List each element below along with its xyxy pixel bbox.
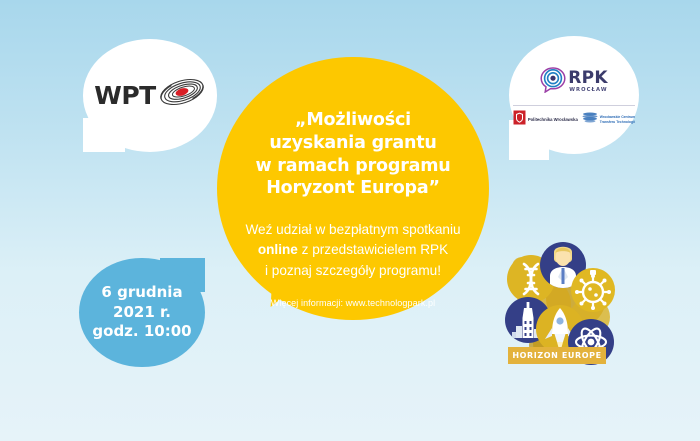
more-info-text: Więcej informacji: www.technologpark.pl (271, 298, 435, 308)
partner-politechnika: Politechnika Wrocławska (513, 110, 578, 130)
politechnika-shield-icon (513, 110, 526, 130)
sun-virus-icon (571, 268, 615, 312)
rpk-logo: RPK WROCŁAW Politechnika Wrocławska (509, 36, 639, 154)
rpk-letters: RPK WROCŁAW (568, 70, 608, 93)
headline-line-4: Horyzont Europa” (255, 177, 450, 200)
main-bubble-content: „Możliwości uzyskania grantu w ramach pr… (217, 57, 489, 320)
horizon-europe-banner: HORIZON EUROPE (508, 347, 606, 364)
date-bubble-content: 6 grudnia 2021 r. godz. 10:00 (79, 258, 205, 367)
wpt-logo: WPT (83, 39, 217, 152)
subtext-line-2: online z przedstawicielem RPK (245, 240, 460, 260)
poster-canvas: WPT (0, 0, 700, 441)
rpk-mark-row: RPK WROCŁAW (540, 67, 608, 98)
online-emphasis: online (258, 242, 298, 257)
wpt-wordmark: WPT (94, 83, 155, 108)
page-title: „Możliwości uzyskania grantu w ramach pr… (241, 109, 464, 200)
date-line-2: 2021 r. (113, 303, 171, 323)
partner-wctt: Wrocławskie Centrum Transferu Technologi… (582, 111, 635, 129)
date-line-3: godz. 10:00 (92, 322, 191, 342)
subtext-line-1: Weź udział w bezpłatnym spotkaniu (245, 220, 460, 240)
wctt-wave-icon (582, 111, 598, 129)
rpk-partner-logos: Politechnika Wrocławska Wrocławskie Cent (513, 105, 635, 130)
politechnika-label: Politechnika Wrocławska (528, 117, 578, 122)
subtitle-text: Weź udział w bezpłatnym spotkaniu online… (237, 220, 468, 281)
headline-line-2: uzyskania grantu (255, 132, 450, 155)
rpk-title: RPK (568, 70, 608, 87)
galaxy-swirl-icon (158, 76, 206, 113)
rpk-subtitle: WROCŁAW (569, 88, 607, 93)
headline-line-1: „Możliwości (255, 109, 450, 132)
subtext-line-2-rest: z przedstawicielem RPK (298, 242, 448, 257)
subtext-line-3: i poznaj szczegóły programu! (245, 261, 460, 281)
wctt-label-line2: Transferu Technologii (600, 120, 635, 124)
rpk-target-speech-bubble-icon (540, 67, 566, 98)
date-line-1: 6 grudnia (101, 283, 182, 303)
headline-line-3: w ramach programu (255, 155, 450, 178)
